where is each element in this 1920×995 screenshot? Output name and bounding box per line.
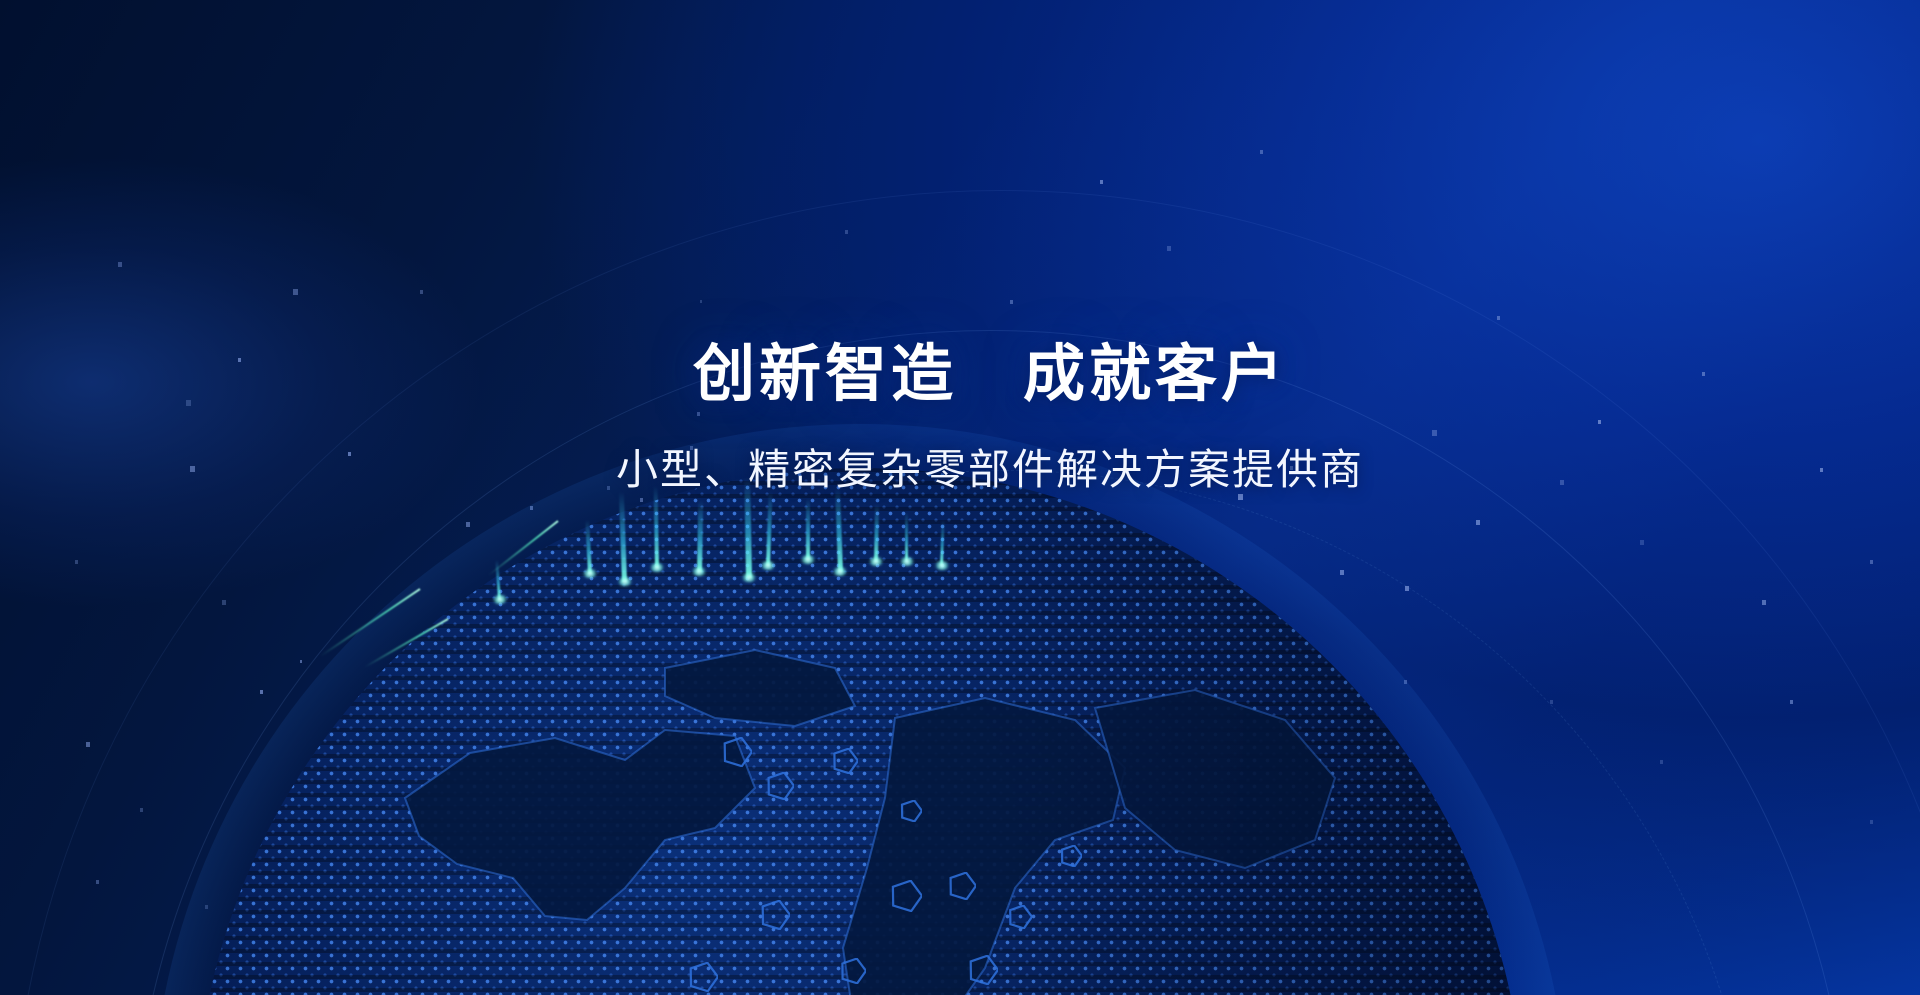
background-particle <box>86 742 90 747</box>
data-light-beam <box>940 520 945 566</box>
hex-node-marker <box>890 880 922 912</box>
background-particle <box>1260 150 1263 154</box>
hex-node-marker <box>688 962 718 992</box>
diagonal-sheen-overlay <box>0 0 1920 995</box>
background-particle <box>1010 300 1013 304</box>
background-particle <box>1167 246 1171 251</box>
background-particle <box>118 262 122 267</box>
hex-node-marker <box>760 900 790 930</box>
hex-node-marker <box>948 872 976 900</box>
data-light-beam <box>874 504 879 562</box>
background-particle <box>222 600 226 605</box>
globe-limb-glow <box>192 465 1528 995</box>
background-particle <box>300 660 302 663</box>
hex-node-marker <box>900 800 922 822</box>
background-particle <box>640 498 643 502</box>
hero-banner: 创新智造 成就客户 小型、精密复杂零部件解决方案提供商 <box>0 0 1920 995</box>
data-light-beam <box>697 500 703 572</box>
background-particle <box>260 690 263 694</box>
background-particle <box>1497 316 1500 320</box>
hex-node-marker <box>1008 905 1032 929</box>
hero-copy-block: 创新智造 成就客户 小型、精密复杂零部件解决方案提供商 <box>0 340 1920 496</box>
background-particle <box>700 300 702 303</box>
data-light-beam <box>654 486 659 568</box>
background-particle <box>1476 520 1480 525</box>
background-particle <box>1405 586 1409 591</box>
data-light-beam <box>766 492 773 566</box>
globe-limb-glow-outer <box>181 454 1539 995</box>
data-light-beam <box>835 488 842 572</box>
globe-dot-matrix <box>195 468 1525 995</box>
background-particle <box>1100 180 1103 184</box>
background-particle <box>1762 600 1766 605</box>
page-subtitle: 小型、精密复杂零部件解决方案提供商 <box>60 445 1920 495</box>
background-particle <box>1300 700 1303 704</box>
hex-node-marker <box>832 748 858 774</box>
background-particle <box>1660 760 1663 764</box>
page-title: 创新智造 成就客户 <box>60 340 1920 409</box>
data-light-beam <box>585 520 591 574</box>
hex-node-marker <box>840 958 866 984</box>
background-particle <box>1550 700 1553 704</box>
background-particle <box>1640 540 1644 545</box>
dotted-world-globe <box>195 468 1525 995</box>
background-particle <box>420 290 423 294</box>
light-ray-streak <box>320 588 421 657</box>
background-particle <box>1340 570 1344 575</box>
background-particle <box>466 522 470 527</box>
globe-latitude-bands <box>195 468 1525 995</box>
orbit-arc-dashed <box>255 470 1757 995</box>
background-particle <box>1790 700 1793 704</box>
background-particle <box>96 880 99 884</box>
background-particle <box>1404 680 1407 684</box>
globe-terminator-shadow <box>195 468 1525 995</box>
globe-limb-beads <box>193 466 1527 995</box>
background-particle <box>1870 820 1873 824</box>
background-particle <box>140 808 143 812</box>
background-particle <box>530 506 533 510</box>
globe-halo-ring <box>151 424 1569 995</box>
globe-landmasses <box>195 468 1525 995</box>
background-particle <box>75 560 78 564</box>
light-ray-streak <box>364 618 448 668</box>
hex-node-marker <box>1060 845 1082 867</box>
background-particle <box>520 640 523 644</box>
globe-body <box>195 468 1525 995</box>
data-light-beam <box>806 498 810 560</box>
data-light-beam <box>619 492 627 582</box>
background-particle <box>293 289 298 295</box>
light-ray-streak <box>488 520 559 576</box>
hex-node-marker <box>766 772 794 800</box>
background-particle <box>1232 630 1236 635</box>
background-particle <box>205 905 208 909</box>
hex-node-marker <box>968 955 998 985</box>
background-particle <box>845 230 848 234</box>
background-particle <box>1870 560 1873 564</box>
hex-node-marker <box>722 737 752 767</box>
data-light-beam <box>905 512 908 562</box>
